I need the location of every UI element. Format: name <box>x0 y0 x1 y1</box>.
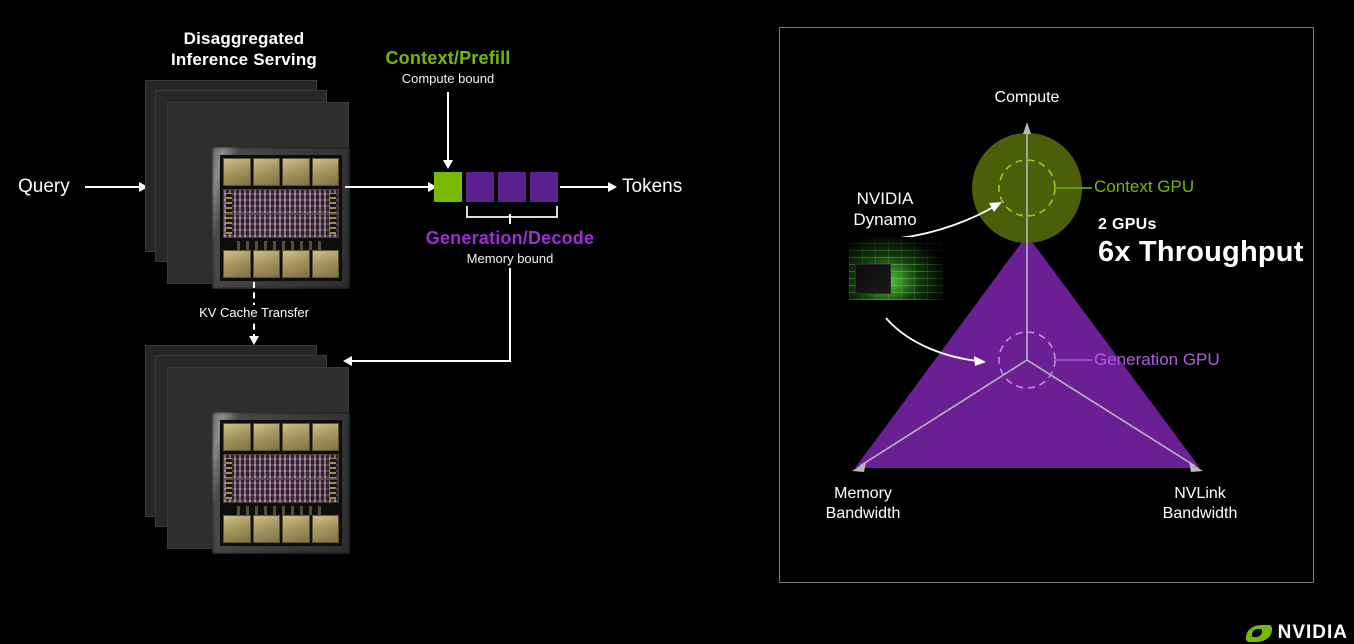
token-strip <box>434 172 558 204</box>
hbm-row-top <box>223 158 339 186</box>
prefill-gpu-stack <box>145 80 345 280</box>
throughput-label: 6x Throughput <box>1098 236 1304 269</box>
query-arrow-line <box>85 186 141 188</box>
nvidia-wordmark: NVIDIA <box>1278 622 1348 644</box>
axis-label-nvlink-bandwidth: NVLink Bandwidth <box>1125 484 1275 524</box>
axis-label-nvlink-line2: Bandwidth <box>1125 504 1275 524</box>
gpus-count-label: 2 GPUs <box>1098 216 1304 234</box>
tokens-out-line <box>560 186 610 188</box>
gpu-die-image <box>212 147 350 289</box>
axis-label-memory-line2: Bandwidth <box>788 504 938 524</box>
hbm-row-bottom <box>223 250 339 278</box>
kv-cache-label: KV Cache Transfer <box>193 305 315 320</box>
dynamo-server-image <box>849 237 944 300</box>
gpu-card-front <box>167 367 349 549</box>
decode-bracket-stem <box>509 214 511 224</box>
generation-decode-callout: Generation/Decode Memory bound <box>410 228 610 266</box>
throughput-callout: 2 GPUs 6x Throughput <box>1098 216 1304 269</box>
tokens-label: Tokens <box>622 176 682 198</box>
context-callout-line <box>447 92 449 162</box>
context-token <box>434 172 462 202</box>
decode-feedback-vline <box>509 268 511 362</box>
axis-label-nvlink-line1: NVLink <box>1125 484 1275 504</box>
generation-decode-heading: Generation/Decode <box>410 228 610 249</box>
gpu-die-silkscreen <box>237 241 325 250</box>
gpu-die-core <box>223 454 339 503</box>
axis-label-memory-bandwidth: Memory Bandwidth <box>788 484 938 524</box>
left-panel-title-line1: Disaggregated <box>144 28 344 49</box>
query-label: Query <box>18 176 70 198</box>
nvidia-logo: NVIDIA <box>1246 622 1348 644</box>
axis-label-compute: Compute <box>957 88 1097 108</box>
dynamo-title-line1: NVIDIA <box>820 188 950 209</box>
gpu-card-front <box>167 102 349 284</box>
axis-compute-arrow-icon <box>1023 122 1031 134</box>
prefill-to-tokens-line <box>345 186 430 188</box>
hbm-row-top <box>223 423 339 451</box>
decode-token-2 <box>498 172 526 202</box>
gpu-die-silkscreen <box>237 506 325 515</box>
gpu-profile-panel: Compute Memory Bandwidth NVLink Bandwidt… <box>779 27 1314 583</box>
generation-gpu-label: Generation GPU <box>1094 350 1220 370</box>
context-prefill-callout: Context/Prefill Compute bound <box>348 48 548 86</box>
generation-decode-subheading: Memory bound <box>410 251 610 266</box>
gpu-die-image <box>212 412 350 554</box>
context-prefill-subheading: Compute bound <box>348 71 548 86</box>
decode-bracket <box>466 206 558 218</box>
nvidia-eye-icon <box>1246 625 1272 642</box>
context-gpu-label: Context GPU <box>1094 177 1194 197</box>
decode-feedback-hline <box>352 360 511 362</box>
hbm-row-bottom <box>223 515 339 543</box>
left-panel-title: Disaggregated Inference Serving <box>144 28 344 70</box>
gpu-die-inner <box>220 420 342 546</box>
axis-label-memory-line1: Memory <box>788 484 938 504</box>
context-prefill-heading: Context/Prefill <box>348 48 548 69</box>
dynamo-title-line2: Dynamo <box>820 209 950 230</box>
left-panel-title-line2: Inference Serving <box>144 49 344 70</box>
decode-token-3 <box>530 172 558 202</box>
kv-cache-label-wrap: KV Cache Transfer <box>155 304 353 322</box>
tokens-out-arrow-icon <box>608 182 617 192</box>
gpu-die-inner <box>220 155 342 281</box>
dynamo-title: NVIDIA Dynamo <box>820 188 950 230</box>
decode-gpu-stack <box>145 345 345 545</box>
kv-cache-arrow-icon <box>249 336 259 345</box>
decode-token-1 <box>466 172 494 202</box>
context-callout-arrow-icon <box>443 160 453 169</box>
gpu-die-core <box>223 189 339 238</box>
disaggregated-serving-diagram: Disaggregated Inference Serving Query <box>0 0 770 634</box>
